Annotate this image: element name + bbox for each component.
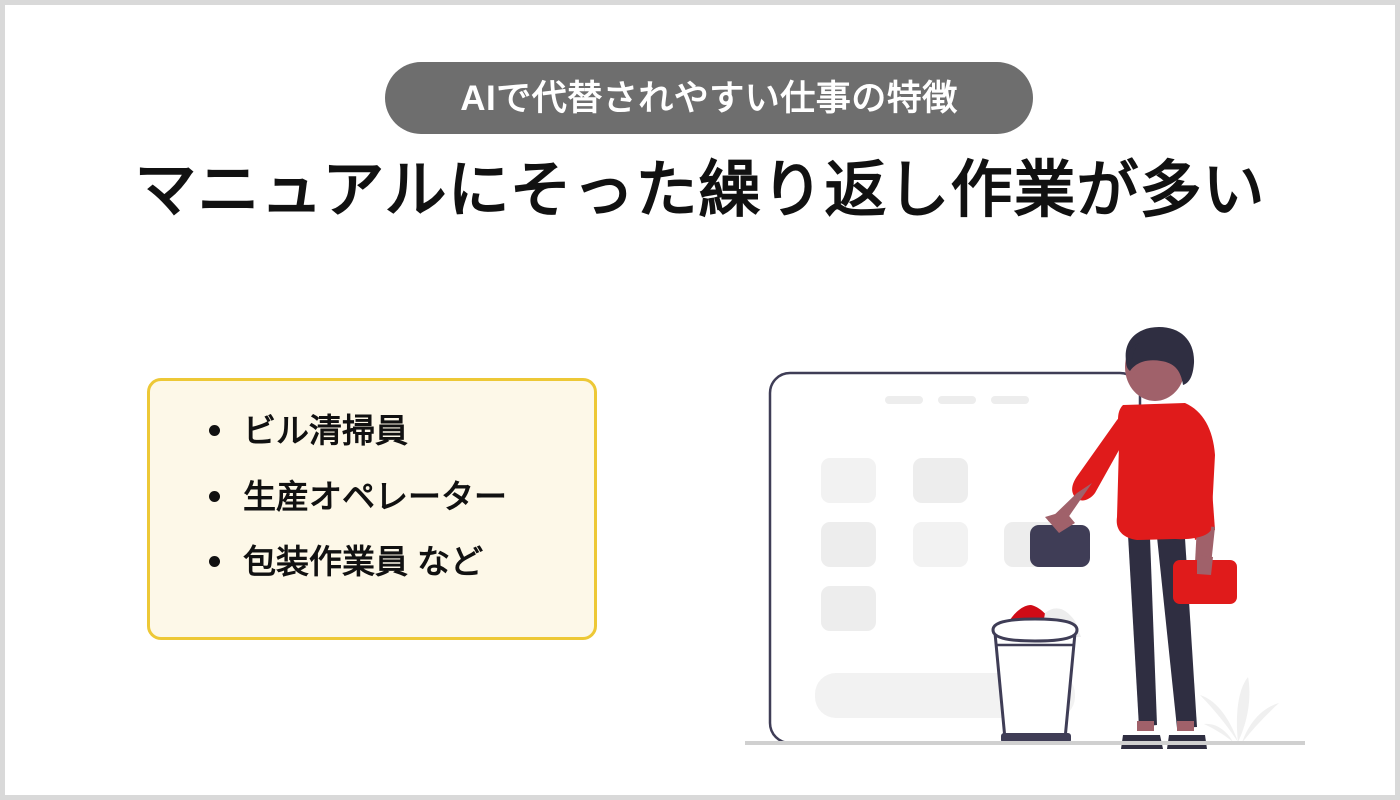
list-item-label: ビル清掃員 [243,412,408,449]
panel-dash [938,396,976,404]
panel-dash [885,396,923,404]
bullet-icon [209,491,220,502]
job-examples-card: ビル清掃員 生産オペレーター 包装作業員 など [147,378,597,640]
trash-bin-icon [993,605,1081,743]
section-badge: AIで代替されやすい仕事の特徴 [385,62,1033,134]
list-item: 包装作業員 など [205,542,507,582]
bullet-icon [209,425,220,436]
list-item-label: 包装作業員 など [243,543,483,580]
ground-line [745,741,1305,745]
section-badge-label: AIで代替されやすい仕事の特徴 [460,81,958,116]
job-list: ビル清掃員 生産オペレーター 包装作業員 など [205,411,507,582]
list-item: ビル清掃員 [205,411,507,451]
list-item: 生産オペレーター [205,477,507,517]
placeholder-tile [913,522,968,567]
placeholder-tile [821,458,876,503]
page-title: マニュアルにそった繰り返し作業が多い [5,155,1395,226]
slide-canvas: AIで代替されやすい仕事の特徴 マニュアルにそった繰り返し作業が多い ビル清掃員… [5,5,1395,795]
placeholder-tile [821,522,876,567]
illustration-person-sorting-files [745,325,1305,775]
placeholder-tile [821,586,876,631]
bullet-icon [209,556,220,567]
placeholder-tile [913,458,968,503]
list-item-label: 生産オペレーター [243,478,507,515]
plant-icon [1200,677,1279,743]
panel-dash [991,396,1029,404]
